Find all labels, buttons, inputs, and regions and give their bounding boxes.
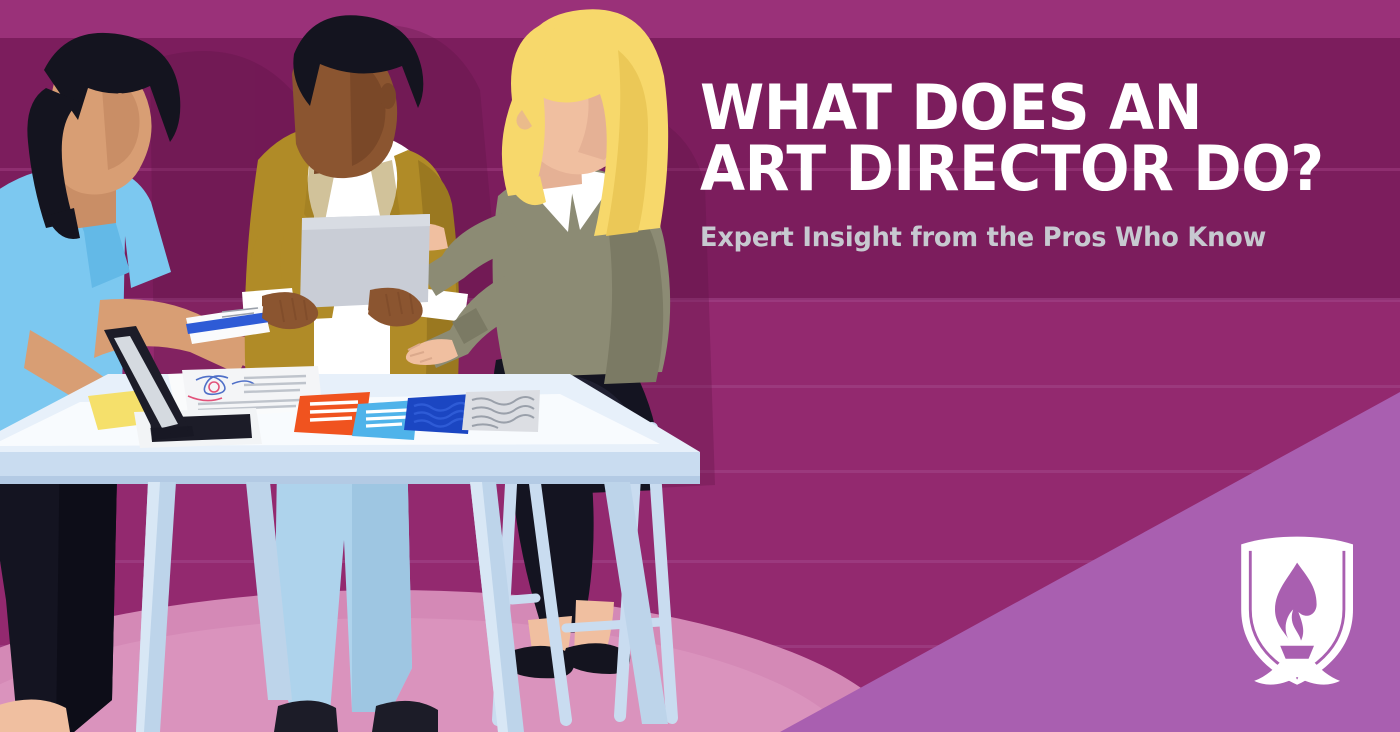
page-subtitle: Expert Insight from the Pros Who Know (700, 222, 1327, 253)
headline-block: WHAT DOES AN ART DIRECTOR DO? Expert Ins… (700, 78, 1360, 253)
headline-line-1: WHAT DOES AN (700, 78, 1320, 139)
hero-banner: WHAT DOES AN ART DIRECTOR DO? Expert Ins… (0, 0, 1400, 732)
page-title: WHAT DOES AN ART DIRECTOR DO? (700, 78, 1320, 200)
headline-line-2: ART DIRECTOR DO? (700, 139, 1320, 200)
rasmussen-shield-flame-logo (1241, 537, 1353, 685)
